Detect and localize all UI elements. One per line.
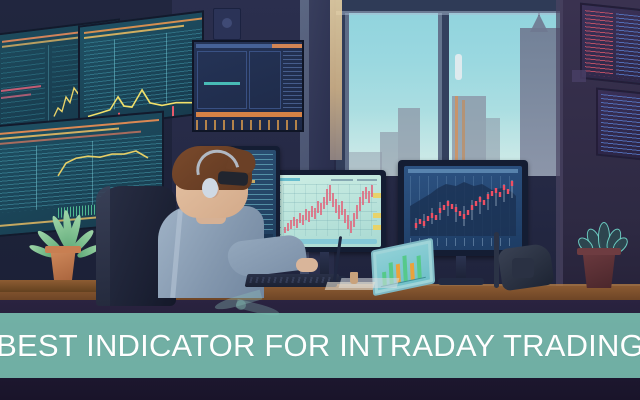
terminal-panel-mid (249, 51, 281, 109)
wall-right-edge (556, 0, 563, 330)
chart-price-tag (373, 225, 381, 230)
office-chair-edge (96, 186, 110, 306)
wall-monitor-right-lower-screen (598, 90, 640, 159)
desk-monitor-right-screen (404, 166, 522, 250)
skyline-tower (520, 28, 560, 176)
chart-price-tag (373, 193, 381, 198)
terminal-panel-left (197, 51, 247, 109)
terminal-footer-cells (196, 120, 304, 132)
terminal-footer-ribbon (196, 112, 304, 117)
wall-label-small (572, 70, 586, 82)
terminal-panel-right (283, 51, 303, 109)
window-mullion-left-highlight (345, 0, 349, 176)
wall-monitor-right-upper[interactable] (580, 3, 640, 86)
wall-monitor-right-upper-screen (582, 5, 640, 83)
ceiling-fan-hub (236, 300, 246, 310)
desk-telephone-keypad[interactable] (512, 258, 534, 278)
wall-monitor-center-screen (194, 42, 302, 130)
sunlight-strip (330, 0, 342, 160)
wall-monitor-top-right-screen (80, 13, 202, 128)
desk-coffee-mug (350, 272, 358, 284)
plant-left-pot-rim (45, 246, 81, 253)
wall-device-lens (222, 18, 232, 28)
marker-red (172, 106, 174, 118)
person-hand (296, 258, 318, 272)
terminal-sparkline (204, 82, 240, 85)
wall-monitor-center[interactable] (192, 40, 304, 132)
plant-right-pot-rim (577, 248, 621, 255)
chart-price-tag (373, 213, 381, 218)
desk-monitor-right-stand (456, 256, 466, 280)
quote-rows-blue (616, 13, 640, 80)
quote-rows-red (585, 10, 613, 77)
keyboard-keys (249, 277, 334, 283)
quote-rows-blue (601, 94, 640, 156)
wall-monitor-right-lower[interactable] (596, 87, 640, 160)
headset-earcup (202, 178, 218, 198)
banner-title: BEST INDICATOR FOR INTRADAY TRADING (0, 313, 640, 378)
window-handle[interactable] (455, 54, 462, 80)
window-mullion-center-highlight (438, 0, 442, 176)
terminal-tab-orange (272, 44, 302, 48)
window-frame-top-highlight (336, 11, 560, 15)
desk-monitor-right-base (438, 278, 484, 285)
screenshot-canvas: BEST INDICATOR FOR INTRADAY TRADING (0, 0, 640, 400)
